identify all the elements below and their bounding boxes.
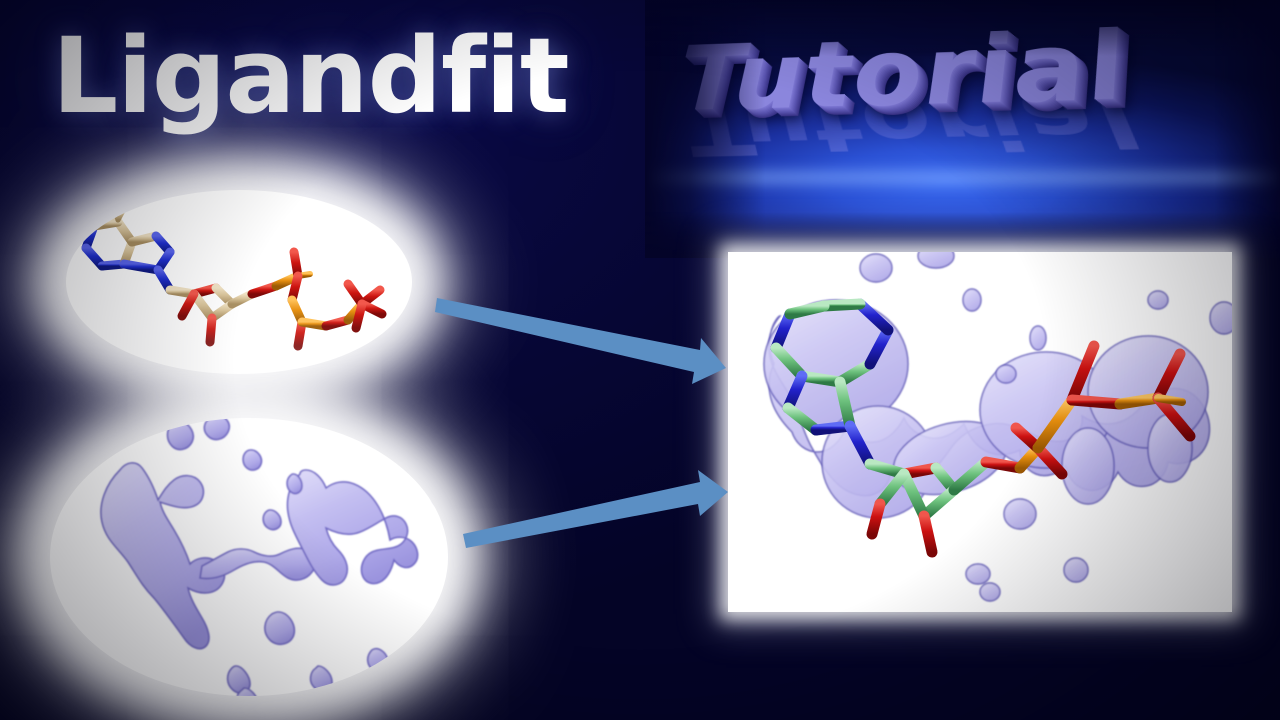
- slide-canvas: Tutorial Tutorial Ligandfit: [0, 0, 1280, 720]
- background-vignette: [0, 0, 1280, 720]
